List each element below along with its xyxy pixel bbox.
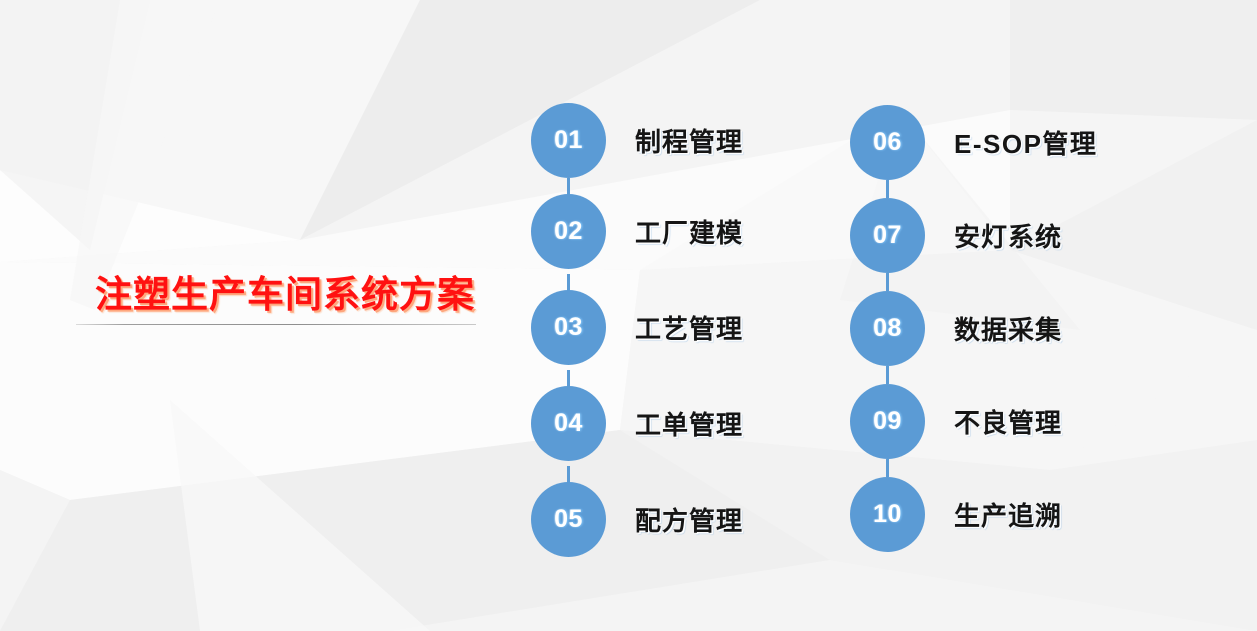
step-label-04: 工单管理	[635, 405, 743, 442]
step-number-07: 07	[873, 221, 902, 250]
connector-line-09-10	[886, 459, 889, 477]
title-divider	[76, 324, 476, 325]
step-label-10: 生产追溯	[954, 496, 1062, 533]
step-item-01[interactable]: 01 制程管理	[531, 103, 743, 178]
step-label-02: 工厂建模	[635, 213, 743, 250]
step-item-04[interactable]: 04 工单管理	[531, 386, 743, 461]
step-number-04: 04	[554, 409, 583, 438]
step-column-right: 06 E-SOP管理 07 安灯系统 08 数据采集 09 不良管理 10	[850, 0, 1230, 631]
step-label-08: 数据采集	[954, 310, 1062, 347]
step-label-06: E-SOP管理	[954, 124, 1097, 161]
page-title: 注塑生产车间系统方案	[76, 272, 496, 318]
title-block: 注塑生产车间系统方案	[76, 272, 496, 325]
step-badge-05[interactable]: 05	[531, 482, 606, 557]
step-number-10: 10	[873, 500, 902, 529]
step-label-01: 制程管理	[635, 122, 743, 159]
step-number-08: 08	[873, 314, 902, 343]
step-number-05: 05	[554, 505, 583, 534]
step-label-09: 不良管理	[954, 403, 1062, 440]
step-badge-04[interactable]: 04	[531, 386, 606, 461]
step-label-03: 工艺管理	[635, 309, 743, 346]
step-number-03: 03	[554, 313, 583, 342]
step-label-07: 安灯系统	[954, 217, 1062, 254]
step-label-05: 配方管理	[635, 501, 743, 538]
step-item-07[interactable]: 07 安灯系统	[850, 198, 1062, 273]
slide-canvas: 注塑生产车间系统方案 01 制程管理 02 工厂建模 03 工艺管理	[0, 0, 1257, 631]
step-badge-01[interactable]: 01	[531, 103, 606, 178]
step-item-09[interactable]: 09 不良管理	[850, 384, 1062, 459]
step-item-02[interactable]: 02 工厂建模	[531, 194, 743, 269]
step-item-05[interactable]: 05 配方管理	[531, 482, 743, 557]
step-item-10[interactable]: 10 生产追溯	[850, 477, 1062, 552]
step-badge-02[interactable]: 02	[531, 194, 606, 269]
step-badge-07[interactable]: 07	[850, 198, 925, 273]
step-number-06: 06	[873, 128, 902, 157]
step-badge-09[interactable]: 09	[850, 384, 925, 459]
connector-line-06-07	[886, 180, 889, 198]
step-item-06[interactable]: 06 E-SOP管理	[850, 105, 1097, 180]
step-badge-10[interactable]: 10	[850, 477, 925, 552]
step-badge-03[interactable]: 03	[531, 290, 606, 365]
step-number-02: 02	[554, 217, 583, 246]
step-number-09: 09	[873, 407, 902, 436]
connector-line-07-08	[886, 273, 889, 291]
step-item-08[interactable]: 08 数据采集	[850, 291, 1062, 366]
step-item-03[interactable]: 03 工艺管理	[531, 290, 743, 365]
connector-line-08-09	[886, 366, 889, 384]
step-badge-08[interactable]: 08	[850, 291, 925, 366]
step-badge-06[interactable]: 06	[850, 105, 925, 180]
step-number-01: 01	[554, 126, 583, 155]
